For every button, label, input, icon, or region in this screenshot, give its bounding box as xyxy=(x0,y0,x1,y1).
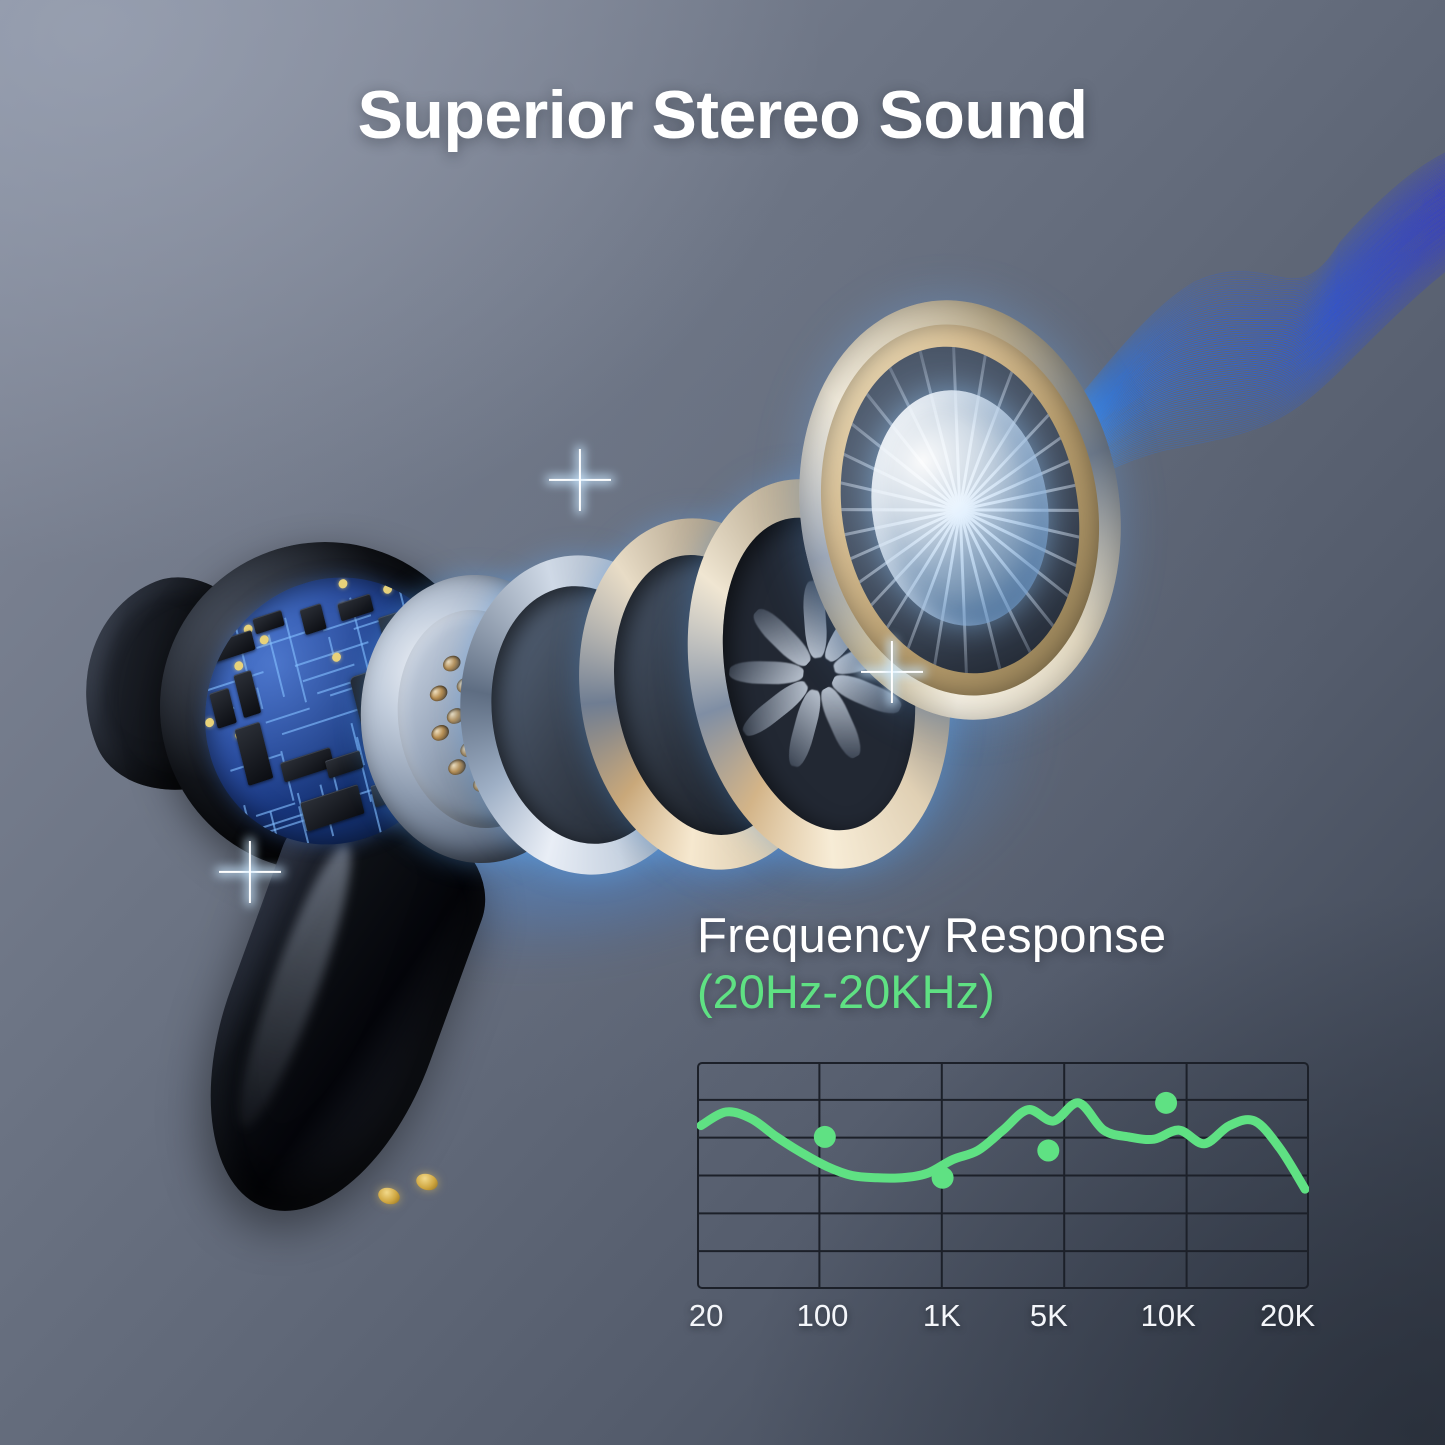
chart-subtitle: (20Hz-20KHz) xyxy=(697,968,1317,1017)
chart-title: Frequency Response xyxy=(697,912,1317,962)
page-title: Superior Stereo Sound xyxy=(0,76,1445,154)
x-tick-label: 20 xyxy=(689,1298,723,1334)
charging-contact xyxy=(414,1171,440,1192)
product-feature-banner: Superior Stereo Sound 5.1 Bluetooth xyxy=(0,0,1445,1445)
chart-x-axis: 201001K5K10K20K xyxy=(697,1298,1309,1342)
frequency-response-chart: Frequency Response (20Hz-20KHz) 201001K5… xyxy=(697,912,1317,1382)
x-tick-label: 5K xyxy=(1030,1298,1068,1334)
sparkle-icon xyxy=(548,448,612,512)
charging-contact xyxy=(376,1185,402,1206)
chart-plot-area xyxy=(697,1062,1309,1289)
x-tick-label: 10K xyxy=(1141,1298,1196,1334)
x-tick-label: 20K xyxy=(1260,1298,1315,1334)
x-tick-label: 100 xyxy=(797,1298,849,1334)
x-tick-label: 1K xyxy=(923,1298,961,1334)
